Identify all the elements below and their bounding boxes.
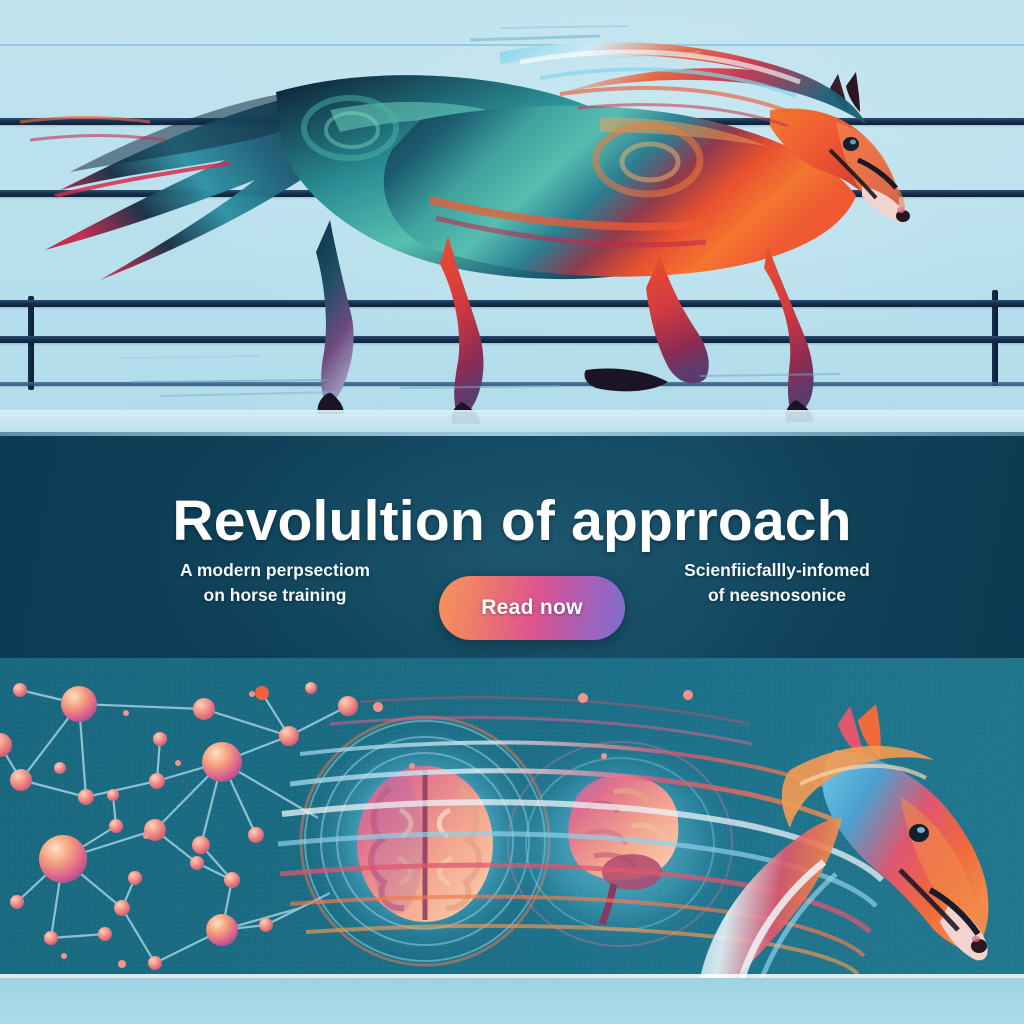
subtitle-left-line1: A modern perpsectiom (180, 560, 370, 580)
subtitle-left-line2: on horse training (140, 583, 410, 608)
footer-band (0, 978, 1024, 1024)
neuroscience-illustration (0, 658, 1024, 978)
neuroscience-scene (0, 658, 1024, 978)
subtitle-left: A modern perpsectiom on horse training (140, 558, 410, 608)
page-title: Revolultion of apprroach (0, 488, 1024, 554)
horse-illustration (0, 0, 1024, 434)
promotional-banner: Revolultion of apprroach A modern perpse… (0, 0, 1024, 1024)
subtitle-right-line2: of neesnosonice (642, 583, 912, 608)
subtitle-right-line1: Scienfiicfallly-infomed (684, 560, 870, 580)
subtitle-right: Scienfiicfallly-infomed of neesnosonice (642, 558, 912, 608)
ground-strip (0, 410, 1024, 434)
read-now-button[interactable]: Read now (439, 576, 625, 640)
hero-horse-scene (0, 0, 1024, 434)
